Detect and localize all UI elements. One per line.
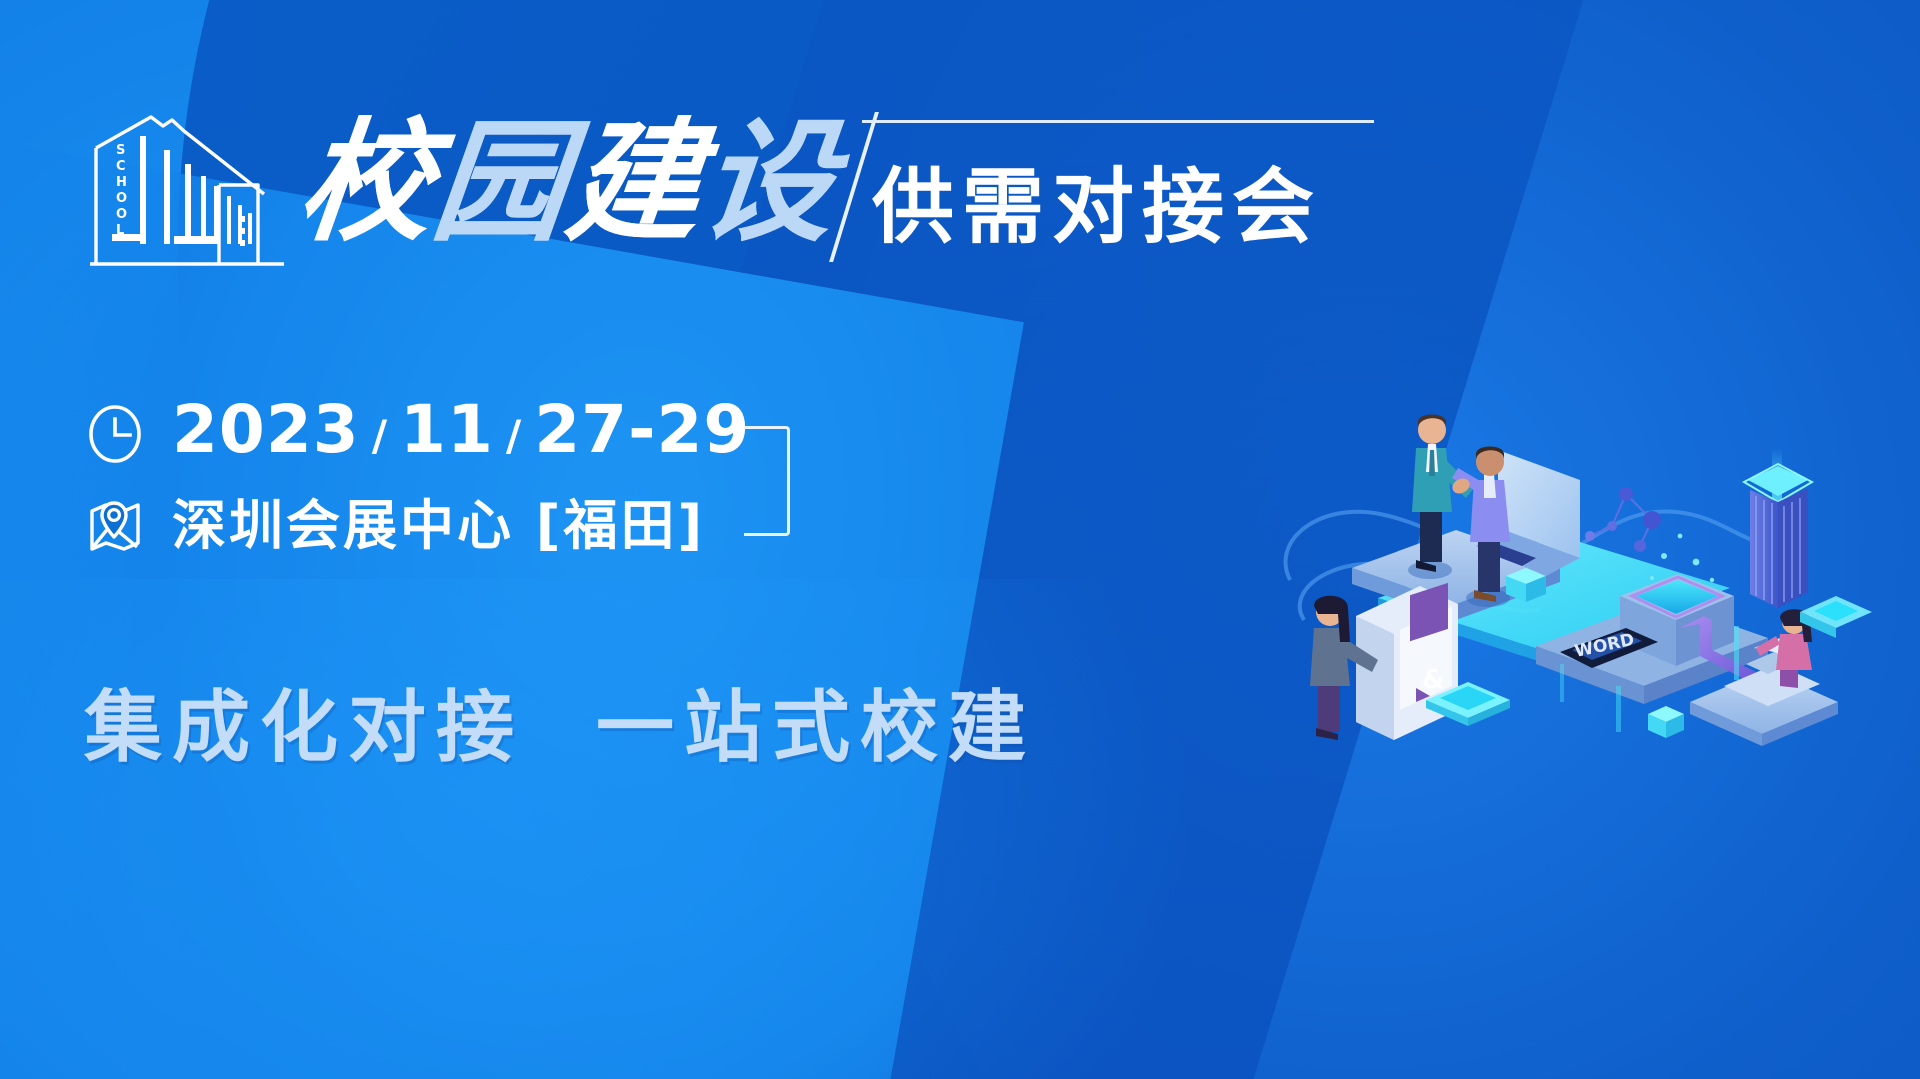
school-icon-letter: L <box>116 223 124 238</box>
school-icon-letter: H <box>116 175 127 190</box>
event-slogan: 集成化对接 一站式校建 <box>84 680 1036 776</box>
event-venue: 深圳会展中心 [福田] <box>172 495 705 557</box>
cube-small-2 <box>1648 706 1684 738</box>
main-title-char-1: 校 <box>292 108 442 258</box>
date-row: 2023 / 11 / 27-29 <box>84 395 844 473</box>
school-icon-letter: O <box>116 207 127 222</box>
date-separator-2: / <box>506 401 522 471</box>
title-block: 校 园 建 设 <box>300 108 836 258</box>
slogan-left: 集成化对接 <box>84 680 524 776</box>
slogan-gap <box>524 680 596 776</box>
main-title: 校 园 建 设 <box>292 108 844 258</box>
background-bottom-glow <box>0 579 1200 1079</box>
banner-header: S C H O O L 校 园 建 设 供需对接会 <box>0 0 1920 300</box>
clock-icon <box>84 403 146 465</box>
main-title-char-3: 建 <box>560 108 710 258</box>
main-title-char-2: 园 <box>426 108 576 258</box>
main-title-char-4: 设 <box>694 108 844 258</box>
glowing-tower <box>1744 448 1812 608</box>
date-separator-1: / <box>372 401 388 471</box>
map-pin-icon <box>84 495 146 557</box>
date-month: 11 <box>400 395 494 465</box>
isometric-illustration: & <box>1260 330 1880 750</box>
school-icon-letter: S <box>116 143 125 158</box>
title-top-rule <box>862 120 1374 123</box>
event-banner: S C H O O L 校 园 建 设 供需对接会 <box>0 0 1920 1079</box>
subtitle: 供需对接会 <box>872 160 1322 256</box>
school-icon-letter: C <box>116 159 126 174</box>
chat-bubble-glyph: & <box>1422 665 1445 695</box>
date-year: 2023 <box>172 395 360 465</box>
venue-row: 深圳会展中心 [福田] <box>84 495 844 557</box>
school-building-icon: S C H O O L <box>88 112 303 272</box>
event-date: 2023 / 11 / 27-29 <box>172 395 750 473</box>
info-bracket-decoration <box>744 426 790 536</box>
school-icon-letter: O <box>116 191 127 206</box>
event-info: 2023 / 11 / 27-29 深圳会展中心 [福田] <box>84 395 844 557</box>
slogan-right: 一站式校建 <box>596 680 1036 776</box>
date-days: 27-29 <box>534 395 750 465</box>
